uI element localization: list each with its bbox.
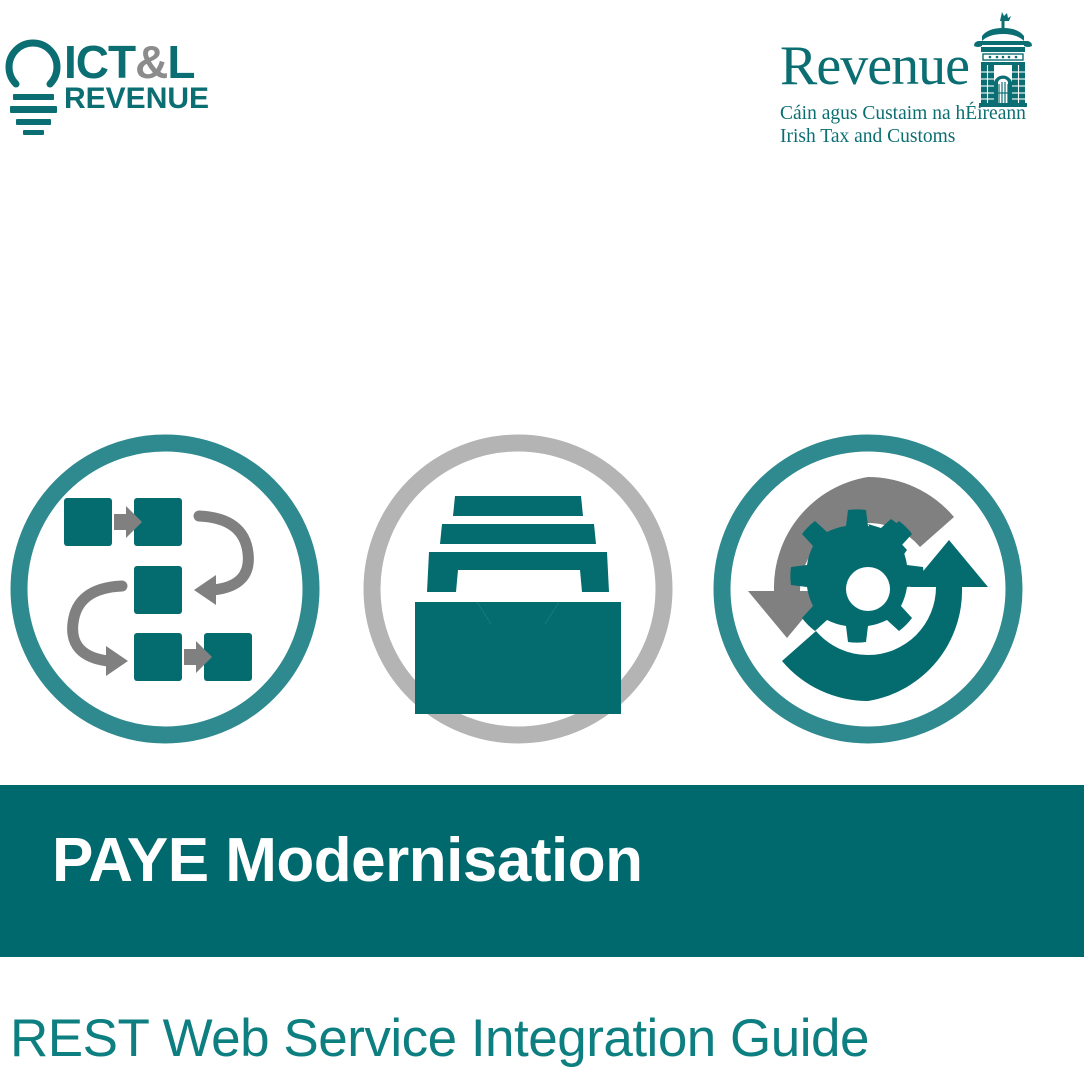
ictl-line1: ICT&L [64,40,224,84]
sync-gear-icon [709,430,1027,748]
lightbulb-icon [4,22,64,137]
page-header: ICT&L REVENUE Revenue [0,0,1084,160]
workflow-process-icon [6,430,324,748]
revenue-subtitle: Cáin agus Custaim na hÉireann Irish Tax … [780,102,1026,148]
ictl-line1-prefix: ICT [64,36,135,88]
revenue-logo: Revenue [764,10,1034,150]
revenue-wordmark: Revenue [780,38,969,94]
feature-icon-row [0,430,1084,755]
page-subtitle: REST Web Service Integration Guide [10,1008,869,1069]
title-banner: PAYE Modernisation [0,785,1084,957]
customs-house-gate-icon [972,10,1034,108]
revenue-subtitle-irish: Cáin agus Custaim na hÉireann [780,102,1026,125]
ictl-revenue-logo: ICT&L REVENUE [4,22,224,142]
file-tray-icon [359,430,677,748]
revenue-subtitle-english: Irish Tax and Customs [780,125,1026,148]
ictl-wordmark: ICT&L REVENUE [64,40,224,114]
page-title: PAYE Modernisation [52,825,642,896]
ictl-line2: REVENUE [64,84,224,114]
ictl-ampersand: & [135,36,167,88]
ictl-line1-suffix: L [167,36,194,88]
